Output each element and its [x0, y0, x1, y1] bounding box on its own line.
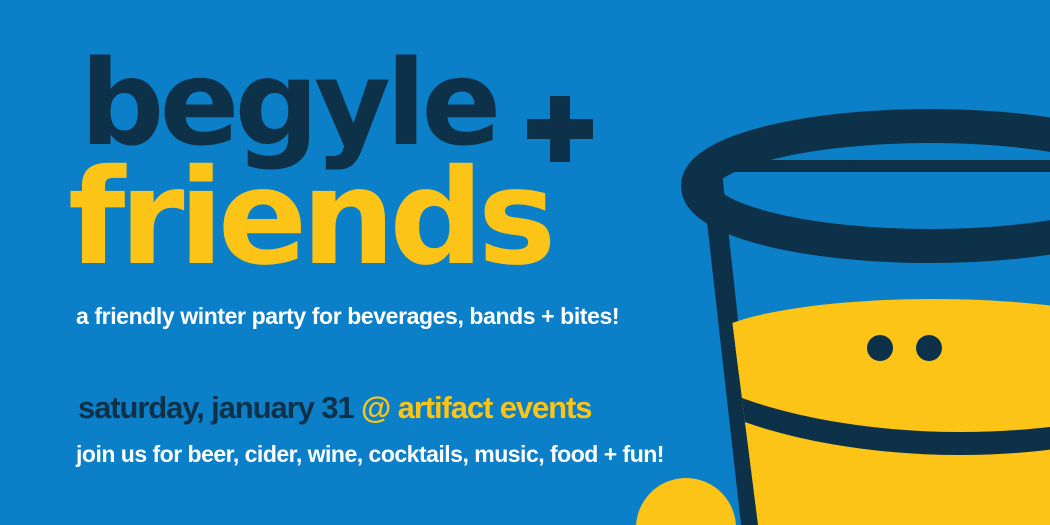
event-banner: begyle friends a friendly winter party f…	[0, 0, 1050, 525]
tagline: a friendly winter party for beverages, b…	[76, 303, 619, 330]
dateline-date: saturday, january 31	[78, 390, 354, 425]
dateline-venue: @ artifact events	[361, 390, 591, 425]
copy-block: begyle friends a friendly winter party f…	[0, 0, 700, 525]
wordmark-line-friends: friends	[68, 152, 550, 284]
subline: join us for beer, cider, wine, cocktails…	[76, 441, 664, 468]
eye-right	[916, 335, 942, 361]
dateline: saturday, january 31 @ artifact events	[78, 390, 591, 426]
wordmark: begyle friends	[0, 0, 700, 300]
eye-left	[867, 335, 893, 361]
